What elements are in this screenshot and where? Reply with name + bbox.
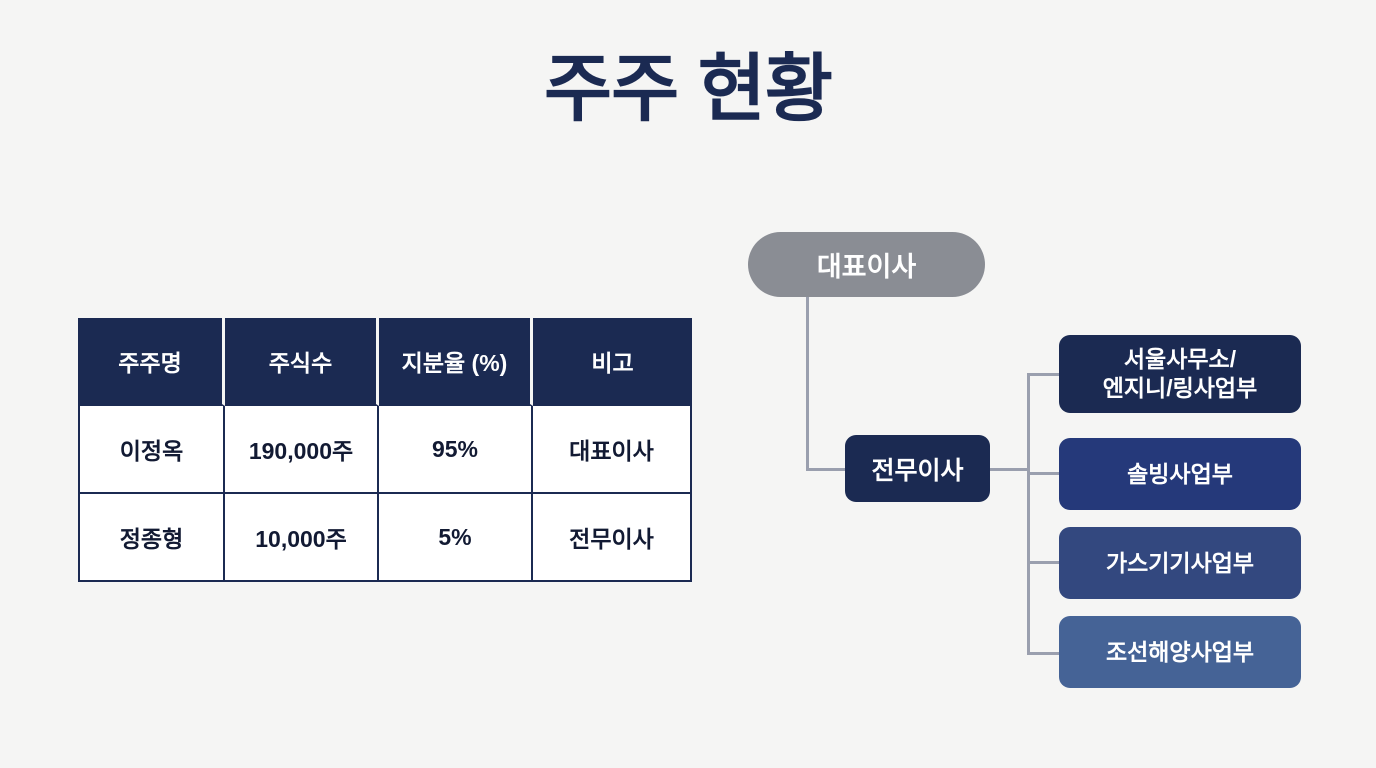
org-node-department-4: 조선해양사업부 (1059, 616, 1301, 688)
cell-shares: 10,000주 (225, 494, 379, 582)
cell-shares: 190,000주 (225, 406, 379, 494)
connector-department-2 (1027, 472, 1062, 475)
page-title: 주주 현황 (0, 52, 1376, 126)
column-header-note: 비고 (533, 318, 692, 406)
shareholder-table: 주주명 주식수 지분율 (%) 비고 이정옥 190,000주 95% 대표이사… (78, 318, 692, 582)
cell-note: 대표이사 (533, 406, 692, 494)
connector-department-trunk (1027, 373, 1030, 655)
connector-evp-horizontal (987, 468, 1030, 471)
department-label-1-line1: 서울사무소/ (1124, 346, 1236, 372)
connector-ceo-vertical (806, 295, 809, 471)
table-header-row: 주주명 주식수 지분율 (%) 비고 (78, 318, 692, 406)
department-label-1-line2: 엔지니/링사업부 (1103, 375, 1258, 401)
cell-note: 전무이사 (533, 494, 692, 582)
department-label-1: 서울사무소/ 엔지니/링사업부 (1103, 345, 1258, 403)
connector-ceo-horizontal (806, 468, 848, 471)
column-header-ratio: 지분율 (%) (379, 318, 533, 406)
connector-department-3 (1027, 561, 1062, 564)
shareholder-table-container: 주주명 주식수 지분율 (%) 비고 이정옥 190,000주 95% 대표이사… (78, 318, 692, 582)
column-header-shares: 주식수 (225, 318, 379, 406)
org-node-department-1: 서울사무소/ 엔지니/링사업부 (1059, 335, 1301, 413)
table-row: 이정옥 190,000주 95% 대표이사 (78, 406, 692, 494)
slide-canvas: 주주 현황 주주명 주식수 지분율 (%) 비고 이정옥 190,000주 95… (0, 0, 1376, 768)
org-node-department-2: 솔빙사업부 (1059, 438, 1301, 510)
table-row: 정종형 10,000주 5% 전무이사 (78, 494, 692, 582)
org-node-ceo: 대표이사 (748, 232, 985, 297)
connector-department-4 (1027, 652, 1062, 655)
org-chart: 대표이사 전무이사 서울사무소/ 엔지니/링사업부 솔빙사업부 가스기기사업부 … (740, 225, 1340, 695)
cell-name: 이정옥 (78, 406, 225, 494)
org-node-executive-vp: 전무이사 (845, 435, 990, 502)
cell-name: 정종형 (78, 494, 225, 582)
org-node-department-3: 가스기기사업부 (1059, 527, 1301, 599)
cell-ratio: 95% (379, 406, 533, 494)
connector-department-1 (1027, 373, 1062, 376)
cell-ratio: 5% (379, 494, 533, 582)
column-header-name: 주주명 (78, 318, 225, 406)
